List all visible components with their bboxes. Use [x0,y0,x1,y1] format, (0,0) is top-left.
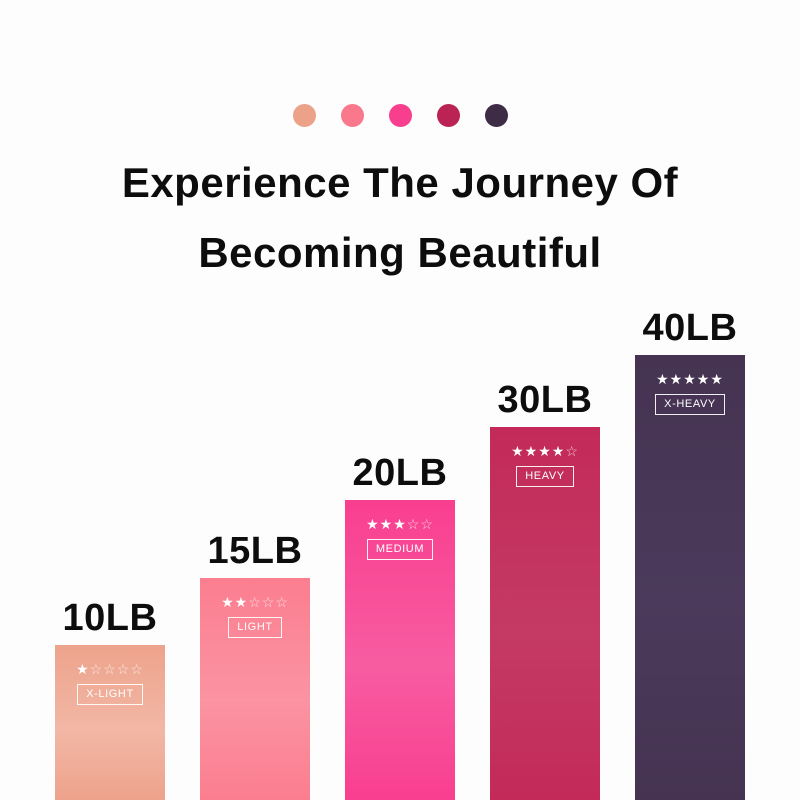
bar-badge: ★★★★★X-HEAVY [635,371,745,415]
bar-badge: ★☆☆☆☆X-LIGHT [55,661,165,705]
bar-weight-label: 10LB [39,599,181,637]
bar-weight-label: 15LB [184,532,326,570]
bar-badge: ★★★★☆HEAVY [490,443,600,487]
rating-stars-filled: ★★★ [366,516,407,532]
resistance-level-label: HEAVY [516,466,573,487]
rating-stars: ★★★★★ [635,371,745,387]
resistance-bar-chart: 10LB★☆☆☆☆X-LIGHT15LB★★☆☆☆LIGHT20LB★★★☆☆M… [0,0,800,800]
rating-stars: ★☆☆☆☆ [55,661,165,677]
bar-column[interactable]: ★☆☆☆☆X-LIGHT [55,645,165,800]
bar-group-15lb[interactable]: 15LB★★☆☆☆LIGHT [200,578,310,800]
rating-stars-empty: ☆☆ [407,516,434,532]
rating-stars: ★★★☆☆ [345,516,455,532]
rating-stars-empty: ☆ [565,443,579,459]
bar-column[interactable]: ★★★☆☆MEDIUM [345,500,455,800]
resistance-level-label: MEDIUM [367,539,433,560]
bar-weight-label: 40LB [619,309,761,347]
rating-stars-filled: ★★★★ [511,443,565,459]
bar-column[interactable]: ★★★★★X-HEAVY [635,355,745,800]
resistance-level-label: X-HEAVY [655,394,725,415]
bar-column[interactable]: ★★★★☆HEAVY [490,427,600,800]
bar-group-40lb[interactable]: 40LB★★★★★X-HEAVY [635,355,745,800]
rating-stars: ★★☆☆☆ [200,594,310,610]
resistance-level-label: LIGHT [228,617,281,638]
bar-badge: ★★★☆☆MEDIUM [345,516,455,560]
rating-stars-empty: ☆☆☆☆ [90,661,144,677]
rating-stars-filled: ★★★★★ [656,371,724,387]
bar-group-30lb[interactable]: 30LB★★★★☆HEAVY [490,427,600,800]
resistance-level-label: X-LIGHT [77,684,143,705]
bar-weight-label: 20LB [329,454,471,492]
bar-column[interactable]: ★★☆☆☆LIGHT [200,578,310,800]
resistance-band-poster: Experience The Journey Of Becoming Beaut… [0,0,800,800]
bar-weight-label: 30LB [474,381,616,419]
rating-stars: ★★★★☆ [490,443,600,459]
bar-group-20lb[interactable]: 20LB★★★☆☆MEDIUM [345,500,455,800]
rating-stars-empty: ☆☆☆ [248,594,289,610]
rating-stars-filled: ★ [76,661,90,677]
bar-badge: ★★☆☆☆LIGHT [200,594,310,638]
rating-stars-filled: ★★ [221,594,248,610]
bar-group-10lb[interactable]: 10LB★☆☆☆☆X-LIGHT [55,645,165,800]
